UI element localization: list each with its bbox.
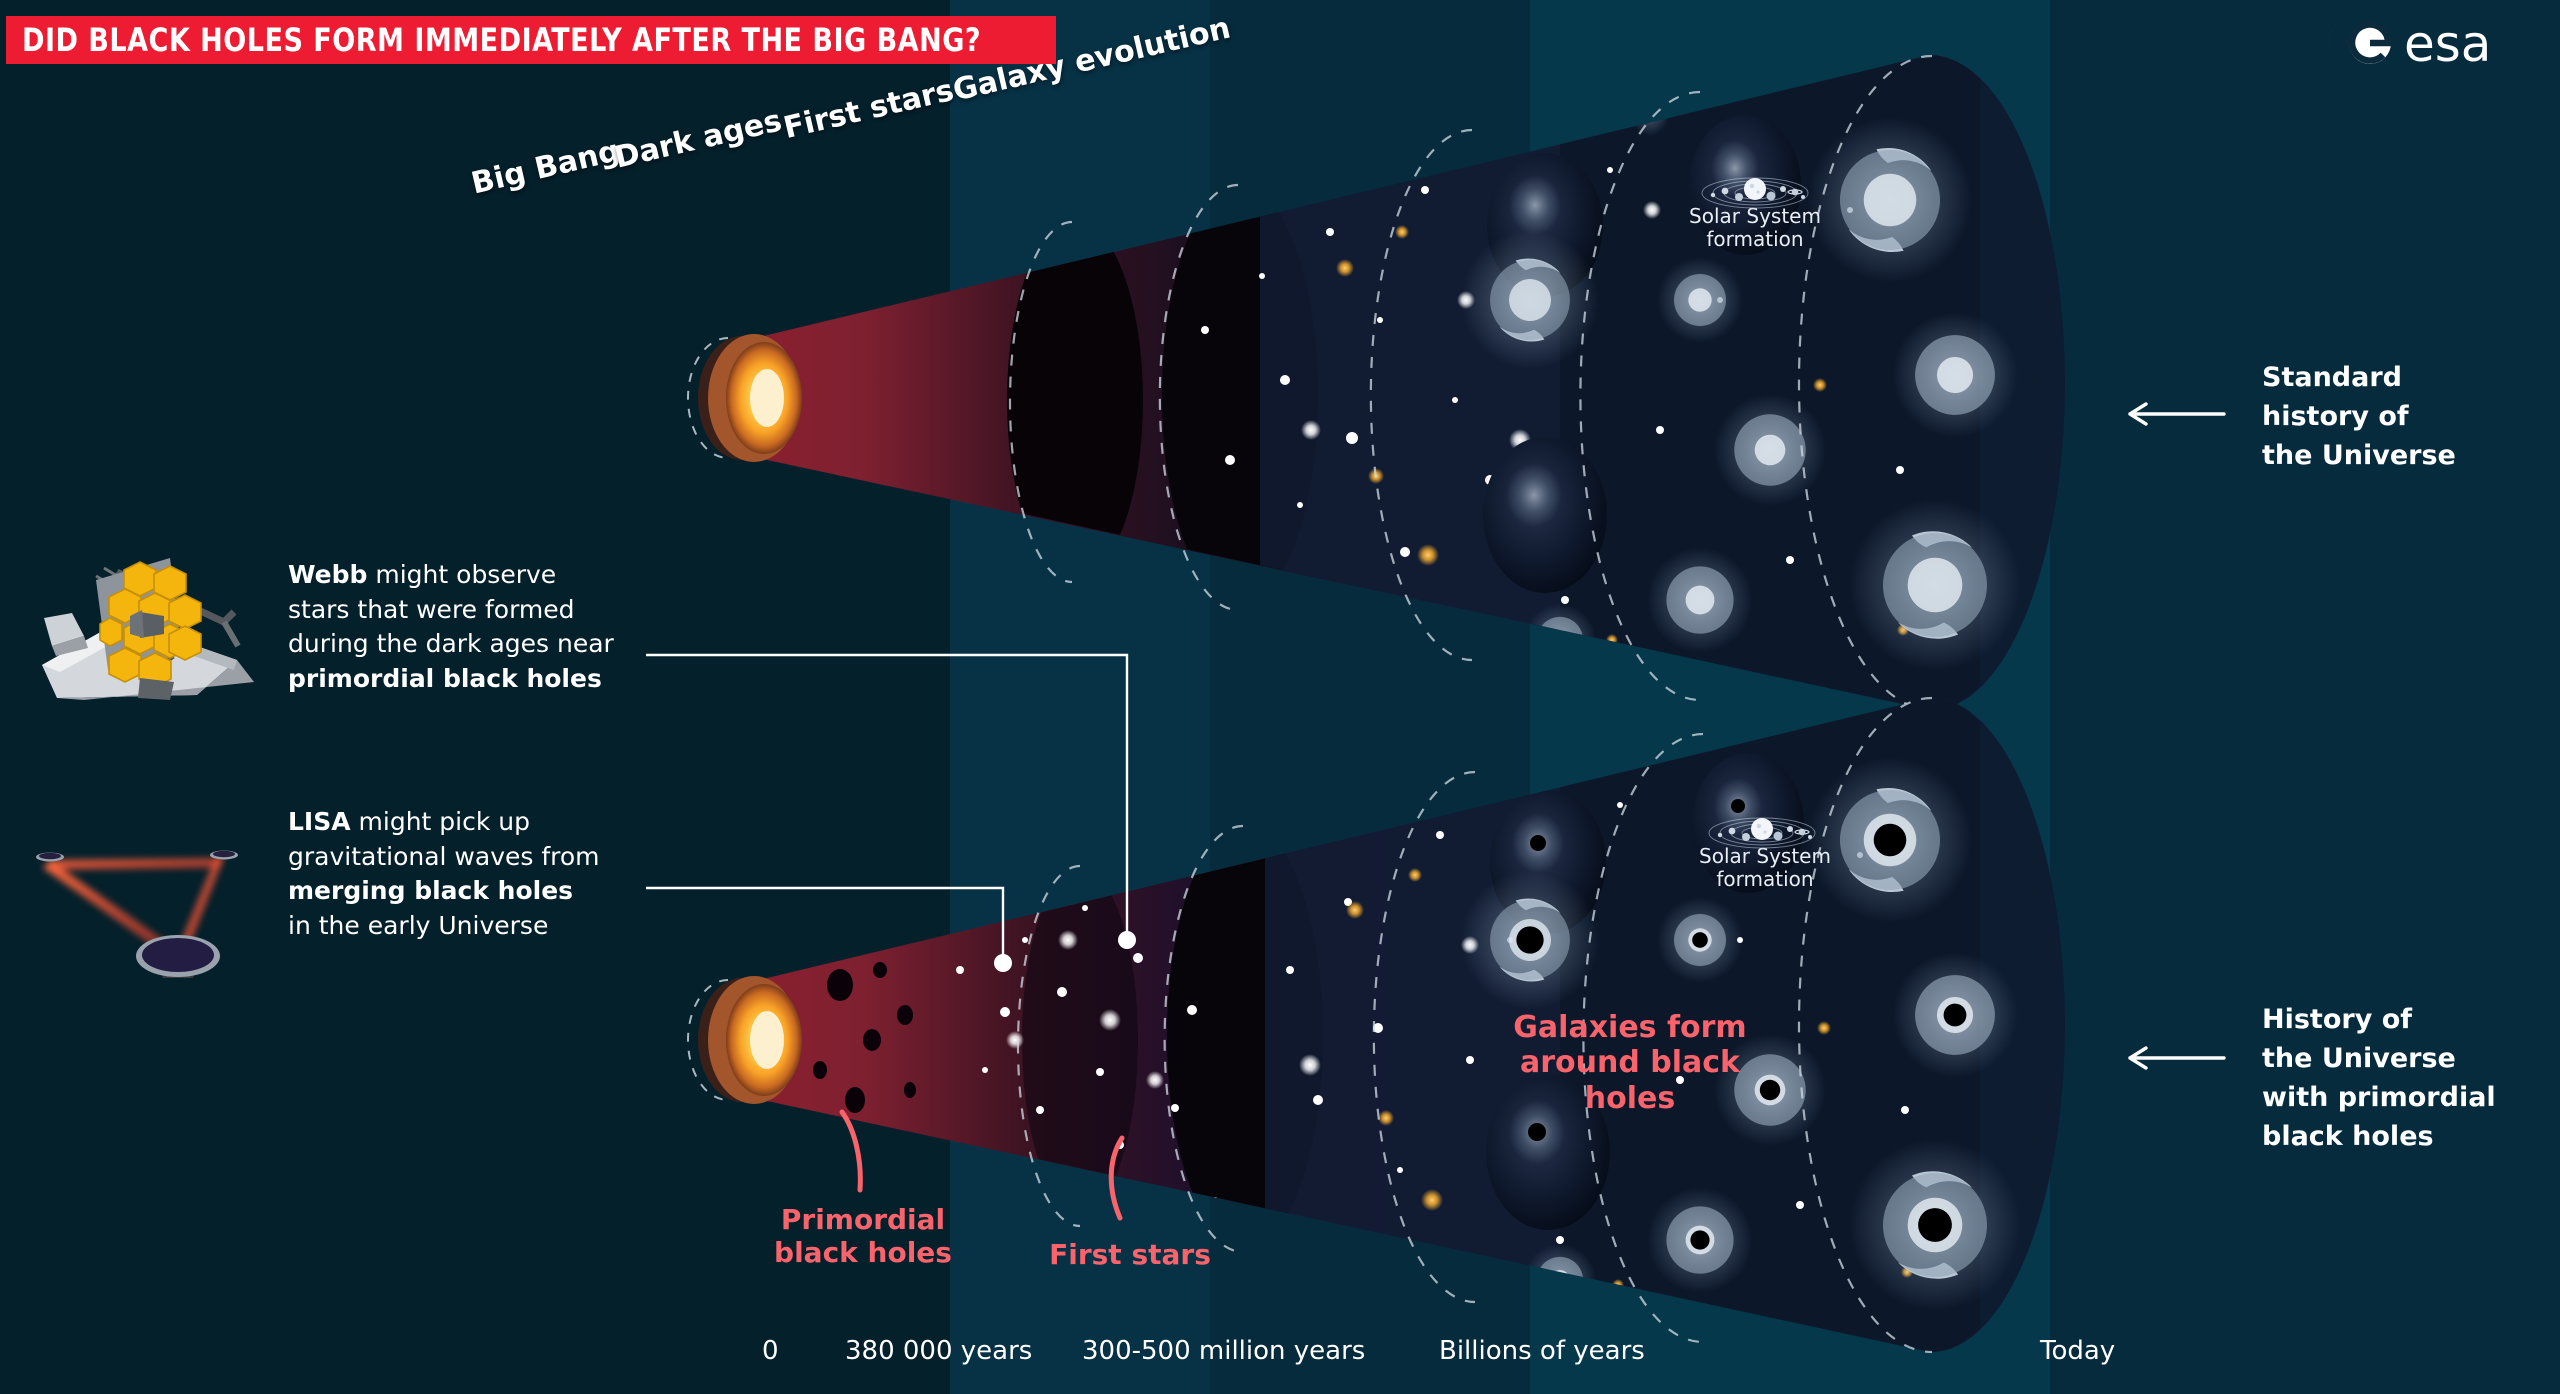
primordial-history-label: History of the Universe with primordial … <box>2262 1000 2496 1157</box>
timeline-label-2: 300-500 million years <box>1082 1336 1365 1366</box>
lisa-callout-text: LISA might pick up gravitational waves f… <box>288 805 628 943</box>
infographic-canvas: Big Bang Dark ages First stars Galaxy ev… <box>0 0 2560 1394</box>
timeline-label-3: Billions of years <box>1439 1336 1645 1366</box>
big-bang-disk-bottom <box>688 976 802 1104</box>
lisa-spacecraft-3 <box>136 935 220 978</box>
timeline-label-0: 0 <box>762 1336 779 1366</box>
page-title: DID BLACK HOLES FORM IMMEDIATELY AFTER T… <box>6 16 1056 64</box>
primordial-history-cone <box>0 640 2100 1394</box>
arrow-left-icon-top <box>2120 398 2230 430</box>
lisa-line1-rest: might pick up <box>351 807 530 836</box>
background-band-5 <box>2050 0 2560 1394</box>
lisa-observatory-icon <box>28 838 243 987</box>
standard-history-label: Standard history of the Universe <box>2262 358 2456 475</box>
webb-callout-text: Webb might observe stars that were forme… <box>288 558 618 696</box>
esa-logo: esa <box>2326 10 2544 80</box>
lisa-spacecraft-1 <box>36 853 64 862</box>
solar-system-icon-bottom <box>1702 805 1822 869</box>
annotation-galaxies-form: Galaxies form around black holes <box>1480 1010 1780 1116</box>
big-bang-disk-top <box>688 334 802 462</box>
webb-line3: during the dark ages near <box>288 627 618 662</box>
webb-line1-rest: might observe <box>367 560 556 589</box>
annotation-primordial-black-holes: Primordial black holes <box>748 1203 978 1269</box>
esa-wordmark: esa <box>2404 15 2491 73</box>
lisa-line4: in the early Universe <box>288 909 628 944</box>
lisa-line3: merging black holes <box>288 876 573 905</box>
webb-line4: primordial black holes <box>288 664 602 693</box>
timeline-label-1: 380 000 years <box>845 1336 1032 1366</box>
lisa-spacecraft-2 <box>210 851 238 860</box>
lisa-line2: gravitational waves from <box>288 840 628 875</box>
esa-emblem-icon <box>2329 13 2391 73</box>
timeline-label-4: Today <box>2040 1336 2115 1366</box>
solar-system-icon-top <box>1695 165 1815 229</box>
page-title-text: DID BLACK HOLES FORM IMMEDIATELY AFTER T… <box>22 21 981 59</box>
annotation-first-stars: First stars <box>1020 1238 1240 1271</box>
webb-line2: stars that were formed <box>288 593 618 628</box>
webb-telescope-icon <box>22 550 272 704</box>
arrow-left-icon-bottom <box>2120 1042 2230 1074</box>
lisa-lead: LISA <box>288 807 351 836</box>
webb-lead: Webb <box>288 560 367 589</box>
